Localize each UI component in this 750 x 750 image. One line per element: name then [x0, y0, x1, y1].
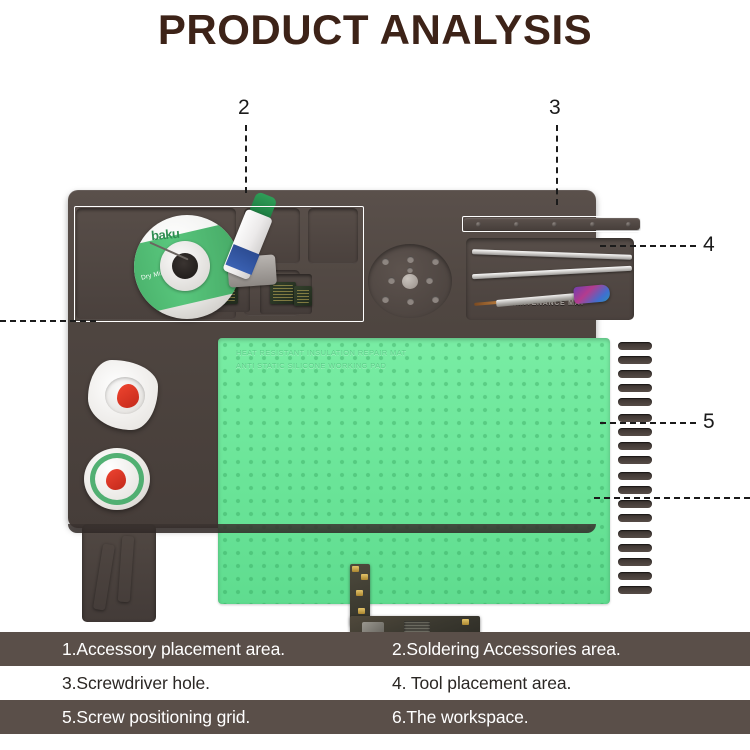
- logic-board-pad: [356, 590, 363, 596]
- screwdriver-tip: [474, 301, 498, 306]
- sim-chip-right-2: [294, 286, 312, 306]
- screwdriver-hole-disc: [368, 244, 452, 318]
- maintenance-mat-body: baku Dry Mill Solder Wire: [68, 190, 596, 528]
- mat-edge-slots: [616, 340, 656, 602]
- callout-number-4: 4: [703, 234, 715, 255]
- mat-slot: [618, 370, 652, 378]
- legend-item-1: 1.Accessory placement area.: [62, 639, 285, 660]
- legend-row: 5.Screw positioning grid. 6.The workspac…: [0, 700, 750, 734]
- mat-slot: [618, 544, 652, 552]
- legend-item-4: 4. Tool placement area.: [392, 673, 571, 694]
- mat-slot: [618, 442, 652, 450]
- screwdriver-hole-dot: [382, 258, 389, 265]
- screwdriver-grip: [573, 284, 610, 304]
- product-photo: baku Dry Mill Solder Wire: [0, 150, 750, 610]
- rail-screw: [626, 222, 631, 227]
- callout-number-3: 3: [549, 97, 561, 118]
- legend: 1.Accessory placement area. 2.Soldering …: [0, 624, 750, 750]
- screwdriver-hole-dot: [407, 256, 414, 263]
- screwdriver-hole-dot: [432, 296, 439, 303]
- green-mat-embossed-line2: ANTI STATIC SILICONE WORKING PAD: [236, 359, 566, 372]
- mat-slot: [618, 500, 652, 508]
- legend-item-6: 6.The workspace.: [392, 707, 529, 728]
- spool-brand-text: baku: [150, 226, 180, 243]
- screwdriver-hole-dot: [388, 277, 395, 284]
- callout-line-4: [600, 245, 696, 247]
- callout-line-1: [0, 320, 96, 322]
- mat-slot: [618, 486, 652, 494]
- flux-paste-jar-drop: [106, 469, 126, 490]
- nozzle-tray: [82, 524, 156, 622]
- screwdriver-hole-dot: [426, 277, 433, 284]
- mat-slot: [618, 384, 652, 392]
- flux-paste-drop: [117, 384, 139, 408]
- legend-item-3: 3.Screwdriver hole.: [62, 673, 210, 694]
- mat-slot: [618, 472, 652, 480]
- green-mat-embossed-line1: HEAT RESISTANT INSULATION REPAIR MAT: [236, 346, 566, 359]
- callout-line-5: [600, 422, 696, 424]
- page-title: PRODUCT ANALYSIS: [0, 6, 750, 54]
- legend-item-5: 5.Screw positioning grid.: [62, 707, 250, 728]
- callout-number-5: 5: [703, 411, 715, 432]
- logic-board-pad: [352, 566, 359, 572]
- legend-row: 3.Screwdriver hole. 4. Tool placement ar…: [0, 666, 750, 700]
- legend-item-2: 2.Soldering Accessories area.: [392, 639, 621, 660]
- callout-line-3: [556, 125, 558, 205]
- mat-slot: [618, 586, 652, 594]
- screwdriver-hole-dot: [382, 296, 389, 303]
- mat-slot: [618, 356, 652, 364]
- mat-slot: [618, 414, 652, 422]
- small-part-recess-b: [308, 208, 358, 264]
- callout-line-6: [594, 497, 750, 499]
- legend-row: 1.Accessory placement area. 2.Soldering …: [0, 632, 750, 666]
- callout-line-2: [245, 125, 247, 193]
- rail-screw: [590, 222, 595, 227]
- screwdriver-hole-dot: [432, 258, 439, 265]
- mat-slot: [618, 398, 652, 406]
- mat-slot: [618, 530, 652, 538]
- brass-nozzle: [118, 536, 135, 603]
- flux-paste-flower-holder: [88, 360, 158, 430]
- mat-slot: [618, 456, 652, 464]
- screwdriver-hole-center: [402, 274, 418, 289]
- green-mat-embossed-text: HEAT RESISTANT INSULATION REPAIR MAT ANT…: [236, 346, 566, 376]
- mat-slot: [618, 572, 652, 580]
- logic-board-pad: [361, 574, 368, 580]
- flux-paste-jar: [84, 448, 150, 510]
- mat-slot: [618, 558, 652, 566]
- mat-slot: [618, 342, 652, 350]
- logic-board-pad: [358, 608, 365, 614]
- screwdriver-hole-dot: [407, 267, 413, 273]
- mat-top-rail: [464, 218, 640, 230]
- sim-chip-right: [270, 282, 296, 304]
- brass-nozzle: [93, 543, 115, 610]
- rail-screw: [476, 222, 481, 227]
- mat-slot: [618, 514, 652, 522]
- screwdriver-hole-dot: [407, 298, 414, 305]
- rail-screw: [552, 222, 557, 227]
- callout-number-2: 2: [238, 97, 250, 118]
- rail-screw: [514, 222, 519, 227]
- mat-slot: [618, 428, 652, 436]
